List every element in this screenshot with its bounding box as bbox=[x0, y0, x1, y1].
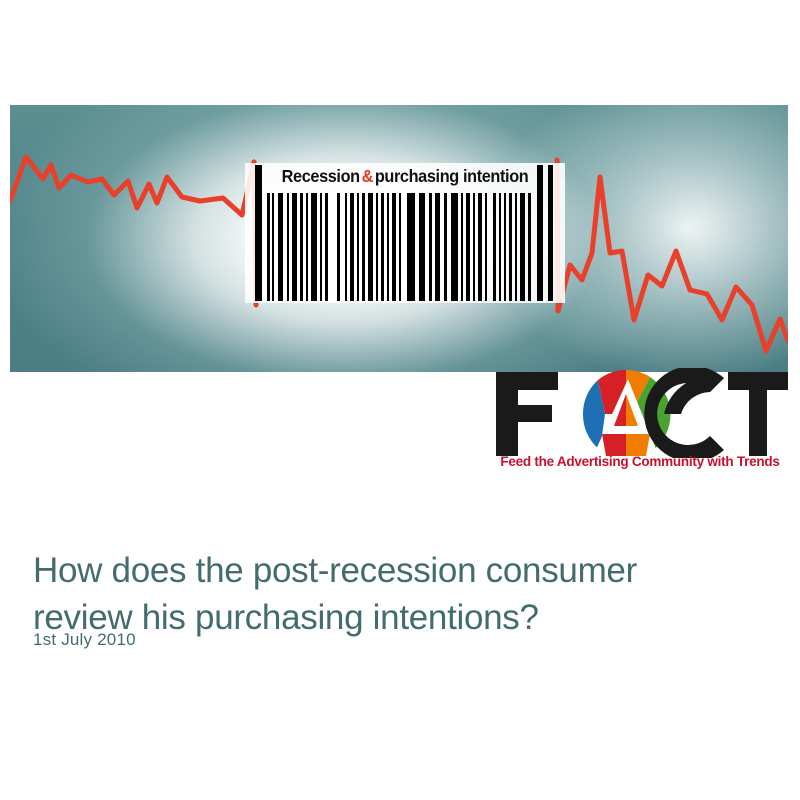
presentation-date: 1st July 2010 bbox=[33, 630, 136, 650]
logo-tagline: Feed the Advertising Community with Tren… bbox=[492, 454, 788, 469]
a-foot-orange bbox=[626, 434, 650, 456]
logo-letter-t bbox=[728, 372, 788, 456]
fact-wordmark-icon bbox=[492, 368, 788, 458]
logo-letter-f bbox=[496, 372, 558, 456]
slide-canvas: Recession & purchasing intention bbox=[0, 0, 800, 800]
trend-line-left bbox=[10, 157, 254, 215]
logo-letter-c bbox=[644, 368, 724, 458]
barcode-graphic: Recession & purchasing intention bbox=[245, 163, 565, 303]
barcode-title-ampersand: & bbox=[362, 166, 373, 187]
page-title: How does the post-recession consumer rev… bbox=[33, 547, 753, 641]
trend-line-right bbox=[558, 177, 788, 351]
recession-banner-image: Recession & purchasing intention bbox=[10, 105, 788, 372]
barcode-title-suffix: purchasing intention bbox=[375, 166, 529, 187]
page-title-line-1: How does the post-recession consumer bbox=[33, 547, 753, 594]
barcode-title-prefix: Recession bbox=[282, 166, 360, 187]
barcode-title-text: Recession & purchasing intention bbox=[269, 163, 541, 189]
a-foot-red bbox=[602, 434, 626, 456]
fact-logo: Feed the Advertising Community with Tren… bbox=[492, 368, 788, 476]
page-title-line-2: review his purchasing intentions? bbox=[33, 594, 753, 641]
